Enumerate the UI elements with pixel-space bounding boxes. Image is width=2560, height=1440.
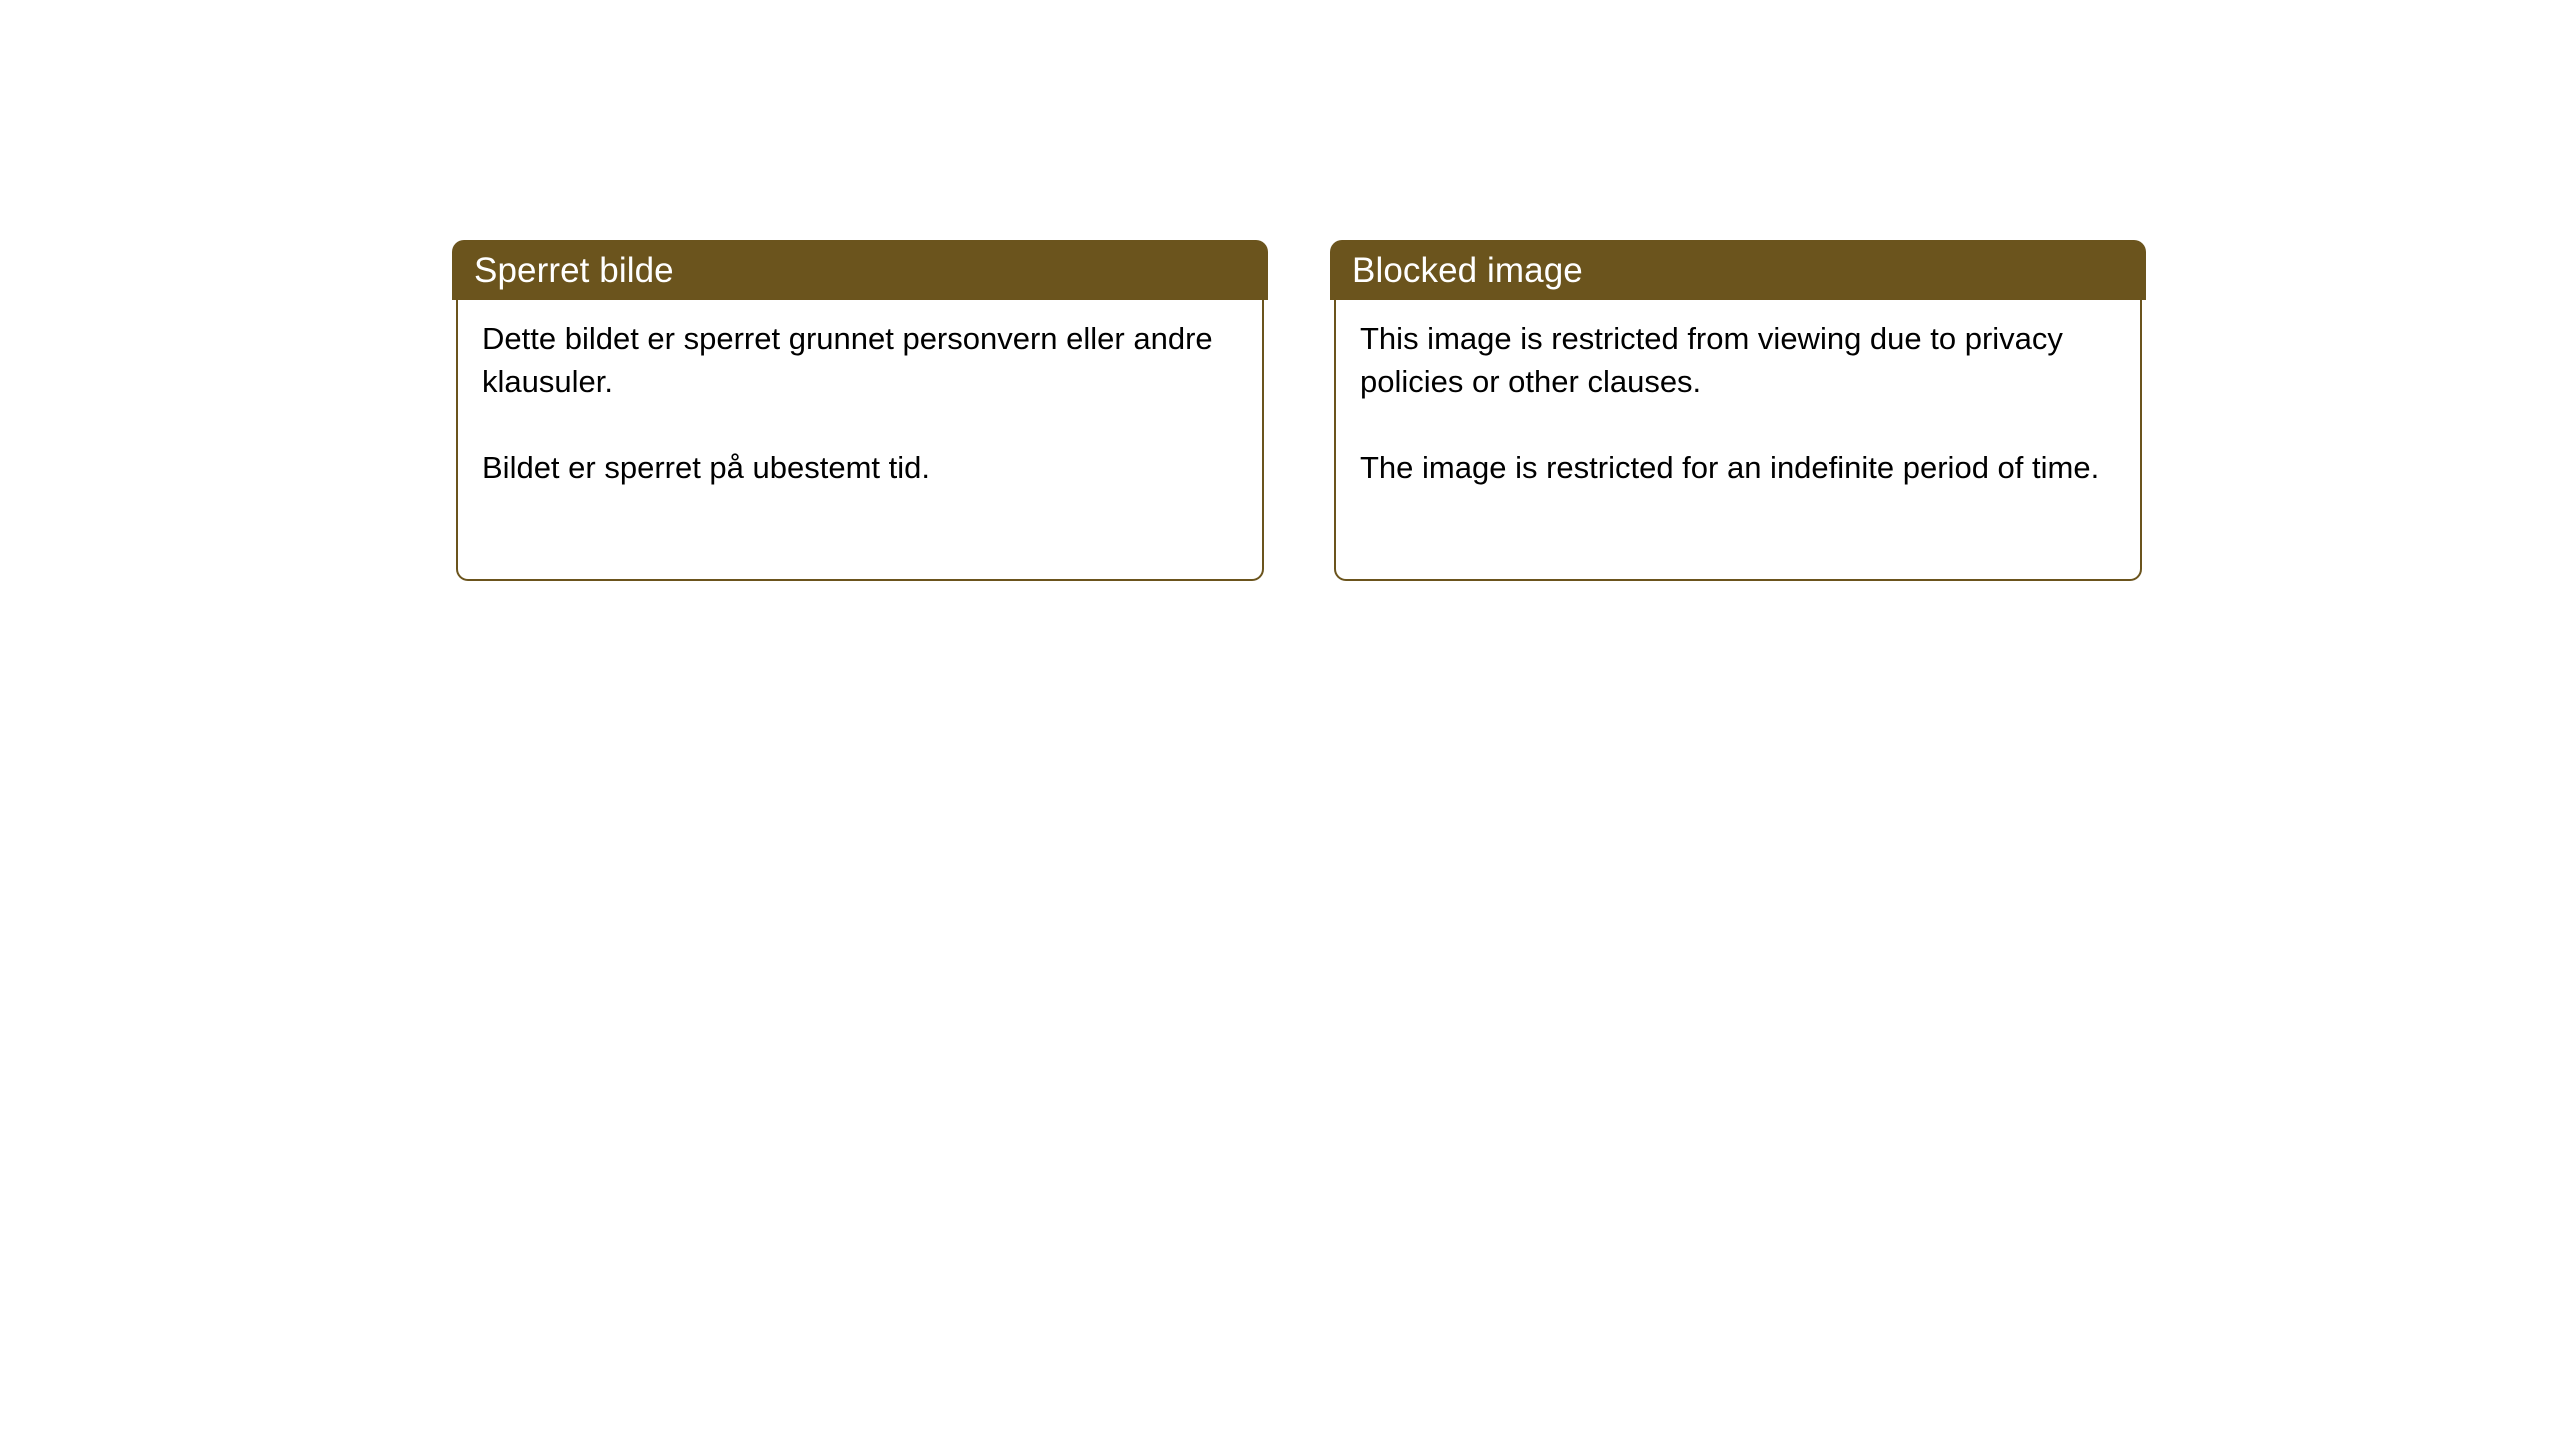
notice-card-paragraph: The image is restricted for an indefinit… — [1360, 446, 2114, 489]
notice-card-title-english: Blocked image — [1352, 253, 1583, 288]
notice-card-body-english: This image is restricted from viewing du… — [1334, 299, 2142, 581]
notice-card-group: Sperret bilde Dette bildet er sperret gr… — [452, 240, 2146, 581]
page-canvas: Sperret bilde Dette bildet er sperret gr… — [0, 0, 2560, 1440]
notice-card-header-norwegian: Sperret bilde — [452, 240, 1268, 300]
notice-card-english: Blocked image This image is restricted f… — [1330, 240, 2146, 581]
notice-card-header-english: Blocked image — [1330, 240, 2146, 300]
notice-card-paragraph: This image is restricted from viewing du… — [1360, 317, 2114, 403]
notice-card-paragraph: Dette bildet er sperret grunnet personve… — [482, 317, 1236, 403]
notice-card-norwegian: Sperret bilde Dette bildet er sperret gr… — [452, 240, 1268, 581]
notice-card-title-norwegian: Sperret bilde — [474, 253, 674, 288]
notice-card-paragraph: Bildet er sperret på ubestemt tid. — [482, 446, 1236, 489]
notice-card-body-norwegian: Dette bildet er sperret grunnet personve… — [456, 299, 1264, 581]
